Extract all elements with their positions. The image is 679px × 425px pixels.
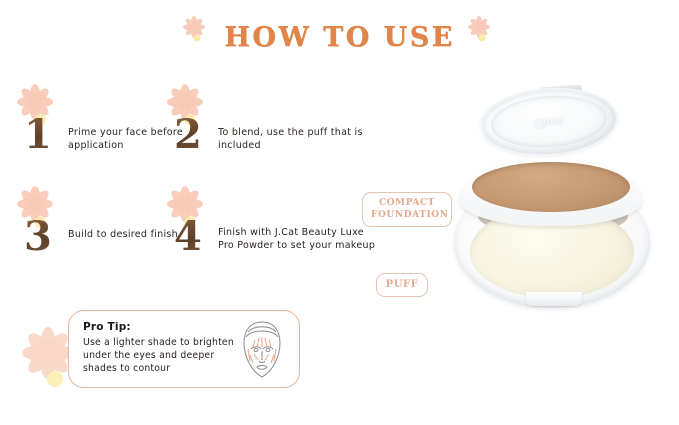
pro-tip-text: Use a lighter shade to brighten under th…	[83, 336, 243, 375]
flower-icon	[184, 25, 210, 51]
page-title-row: HOW TO USE	[0, 22, 679, 53]
step-text: Finish with J.Cat Beauty Luxe Pro Powder…	[218, 226, 378, 252]
step-number: 4	[174, 217, 202, 257]
compact-clasp	[526, 292, 582, 306]
step-number: 2	[174, 115, 202, 155]
step-number-badge: 1	[14, 98, 66, 156]
product-image-compact-foundation: Glam	[418, 84, 678, 314]
face-contour-diagram-icon	[233, 319, 291, 381]
compact-lid-mirror: Glam	[478, 83, 620, 160]
step-number: 3	[24, 217, 52, 257]
pro-tip-box: Pro Tip: Use a lighter shade to brighten…	[68, 310, 300, 388]
page-title: HOW TO USE	[224, 22, 454, 53]
step-number-badge: 2	[164, 98, 216, 156]
flower-icon	[469, 25, 495, 51]
step-number-badge: 4	[164, 200, 216, 258]
step-text: To blend, use the puff that is included	[218, 126, 368, 152]
pro-tip-heading: Pro Tip:	[83, 321, 131, 333]
step-number-badge: 3	[14, 200, 66, 258]
step-number: 1	[24, 115, 52, 155]
foundation-pan	[472, 162, 630, 212]
how-to-use-infographic: HOW TO USE	[0, 0, 679, 425]
